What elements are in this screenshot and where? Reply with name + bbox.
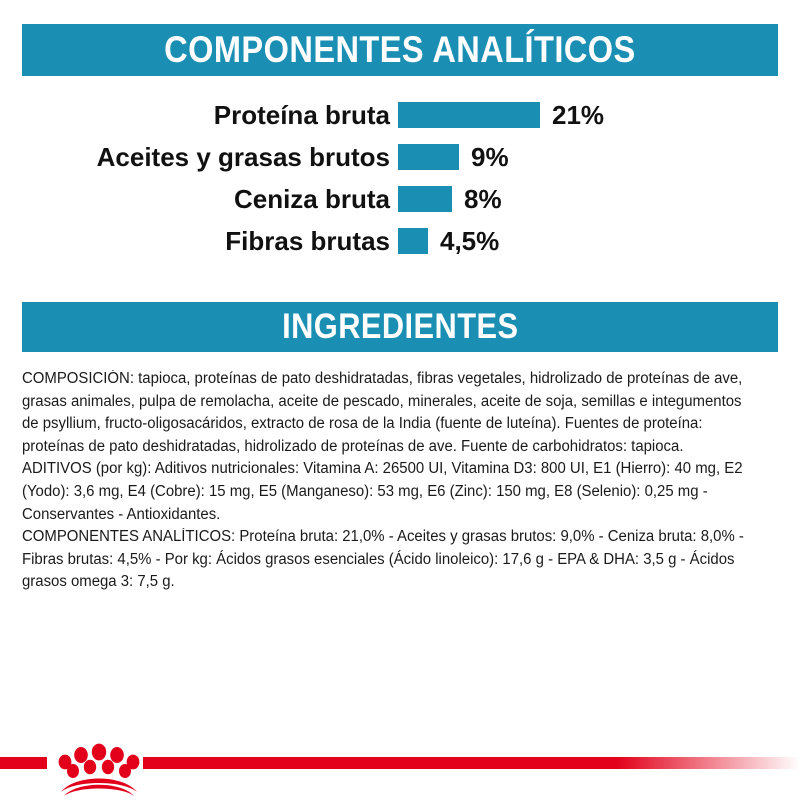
chart-row: Aceites y grasas brutos9% [0, 136, 800, 178]
chart-value-label: 9% [471, 144, 509, 170]
chart-bar-container: 21% [398, 94, 798, 136]
chart-bar-container: 9% [398, 136, 798, 178]
product-info-panel: COMPONENTES ANALÍTICOS Proteína bruta21%… [0, 0, 800, 800]
chart-row-label: Aceites y grasas brutos [0, 144, 398, 170]
chart-value-label: 4,5% [440, 228, 499, 254]
footer [0, 740, 800, 800]
ingredients-text-block: COMPOSICIÓN: tapioca, proteínas de pato … [22, 368, 782, 594]
chart-bar [398, 228, 428, 254]
footer-rule-right [143, 757, 800, 769]
chart-bar-container: 8% [398, 178, 798, 220]
royal-canin-crown-logo [55, 740, 143, 796]
chart-bar [398, 144, 459, 170]
ingredients-header-bar: INGREDIENTES [22, 302, 778, 352]
ingredients-paragraph: COMPOSICIÓN: tapioca, proteínas de pato … [22, 368, 759, 458]
chart-row-label: Fibras brutas [0, 228, 398, 254]
chart-row-label: Proteína bruta [0, 102, 398, 128]
chart-row-label: Ceniza bruta [0, 186, 398, 212]
footer-rule-left [0, 757, 47, 769]
chart-value-label: 8% [464, 186, 502, 212]
analytical-components-header-bar: COMPONENTES ANALÍTICOS [22, 24, 778, 76]
analytical-components-chart: Proteína bruta21%Aceites y grasas brutos… [0, 94, 800, 262]
chart-value-label: 21% [552, 102, 604, 128]
chart-row: Fibras brutas4,5% [0, 220, 800, 262]
chart-row: Ceniza bruta8% [0, 178, 800, 220]
ingredients-paragraph: COMPONENTES ANALÍTICOS: Proteína bruta: … [22, 526, 759, 594]
chart-bar [398, 102, 540, 128]
chart-row: Proteína bruta21% [0, 94, 800, 136]
chart-bar [398, 186, 452, 212]
ingredients-title: INGREDIENTES [282, 307, 518, 347]
ingredients-paragraph: ADITIVOS (por kg): Aditivos nutricionale… [22, 458, 759, 526]
chart-bar-container: 4,5% [398, 220, 798, 262]
analytical-components-title: COMPONENTES ANALÍTICOS [164, 29, 636, 71]
